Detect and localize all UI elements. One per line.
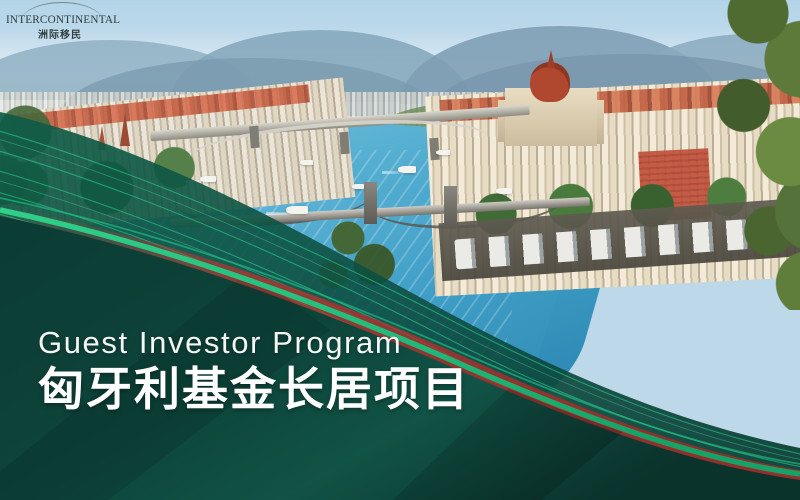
title-chinese: 匈牙利基金长居项目	[38, 365, 558, 415]
logo-chinese-name: 洲际移民	[6, 26, 114, 41]
marketing-banner: INTERCONTINENTAL 洲际移民 Guest Investor Pro…	[0, 0, 800, 500]
brand-overlay	[0, 0, 800, 500]
title-english: Guest Investor Program	[38, 326, 558, 361]
logo[interactable]: INTERCONTINENTAL 洲际移民	[6, 2, 114, 42]
logo-wordmark: INTERCONTINENTAL	[6, 14, 114, 26]
headline-block: Guest Investor Program 匈牙利基金长居项目	[38, 326, 558, 414]
